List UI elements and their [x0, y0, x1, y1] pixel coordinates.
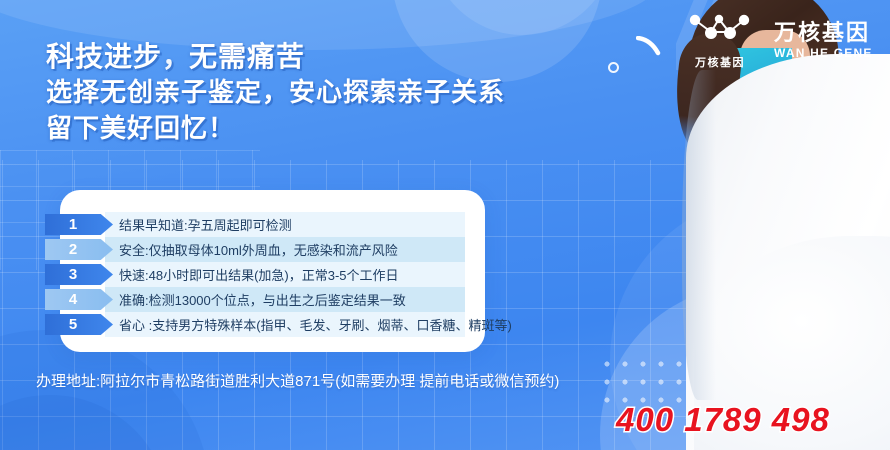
logo-mark: 万核基因: [678, 10, 762, 70]
logo-wordmark: 万核基因 WAN HE GENE: [774, 21, 873, 60]
features-list: 1 结果早知道:孕五周起即可检测 2 安全:仅抽取母体10ml外周血，无感染和流…: [45, 212, 605, 337]
headline-line-1-part-b: 无需痛苦: [189, 41, 305, 72]
headline-line-1-part-a: 科技进步: [46, 41, 162, 72]
item-number-badge: 5: [45, 314, 113, 335]
list-item: 2 安全:仅抽取母体10ml外周血，无感染和流产风险: [45, 237, 605, 262]
promo-poster: 万核基因 万核基因 WAN HE GENE 科技进步，无需痛苦 选择无创亲子鉴定…: [0, 0, 890, 450]
molecule-nodes-icon: [685, 10, 755, 48]
top-circle-decoration-2: [430, 0, 615, 35]
headline-line-1: 科技进步，无需痛苦: [46, 40, 646, 74]
bottom-left-circle-decoration-2: [0, 395, 170, 450]
headline: 科技进步，无需痛苦 选择无创亲子鉴定，安心探索亲子关系 留下美好回忆！: [46, 40, 646, 146]
item-text: 省心 :支持男方特殊样本(指甲、毛发、牙刷、烟蒂、口香糖、精斑等): [119, 315, 512, 334]
headline-line-2: 选择无创亲子鉴定，安心探索亲子关系: [46, 74, 646, 110]
list-item: 4 准确:检测13000个位点，与出生之后鉴定结果一致: [45, 287, 605, 312]
item-text: 安全:仅抽取母体10ml外周血，无感染和流产风险: [119, 240, 398, 259]
logo-name-en: WAN HE GENE: [774, 47, 873, 60]
logo-name-cn: 万核基因: [774, 21, 873, 44]
brand-logo[interactable]: 万核基因 万核基因 WAN HE GENE: [678, 10, 873, 70]
item-number-badge: 3: [45, 264, 113, 285]
item-text: 准确:检测13000个位点，与出生之后鉴定结果一致: [119, 290, 406, 309]
headline-line-3: 留下美好回忆！: [46, 110, 646, 146]
logo-mark-caption: 万核基因: [678, 54, 762, 70]
list-item: 3 快速:48小时即可出结果(加急)，正常3-5个工作日: [45, 262, 605, 287]
model-arm-shadow: [682, 70, 722, 400]
list-item: 5 省心 :支持男方特殊样本(指甲、毛发、牙刷、烟蒂、口香糖、精斑等): [45, 312, 605, 337]
item-number-badge: 1: [45, 214, 113, 235]
list-item: 1 结果早知道:孕五周起即可检测: [45, 212, 605, 237]
office-address: 办理地址:阿拉尔市青松路街道胜利大道871号(如需要办理 提前电话或微信预约): [36, 370, 559, 391]
headline-separator: ，: [162, 41, 189, 72]
item-number-badge: 4: [45, 289, 113, 310]
item-number-badge: 2: [45, 239, 113, 260]
item-text: 快速:48小时即可出结果(加急)，正常3-5个工作日: [119, 265, 399, 284]
item-text: 结果早知道:孕五周起即可检测: [119, 215, 292, 234]
hotline-phone-number[interactable]: 400 1789 498: [616, 401, 830, 439]
